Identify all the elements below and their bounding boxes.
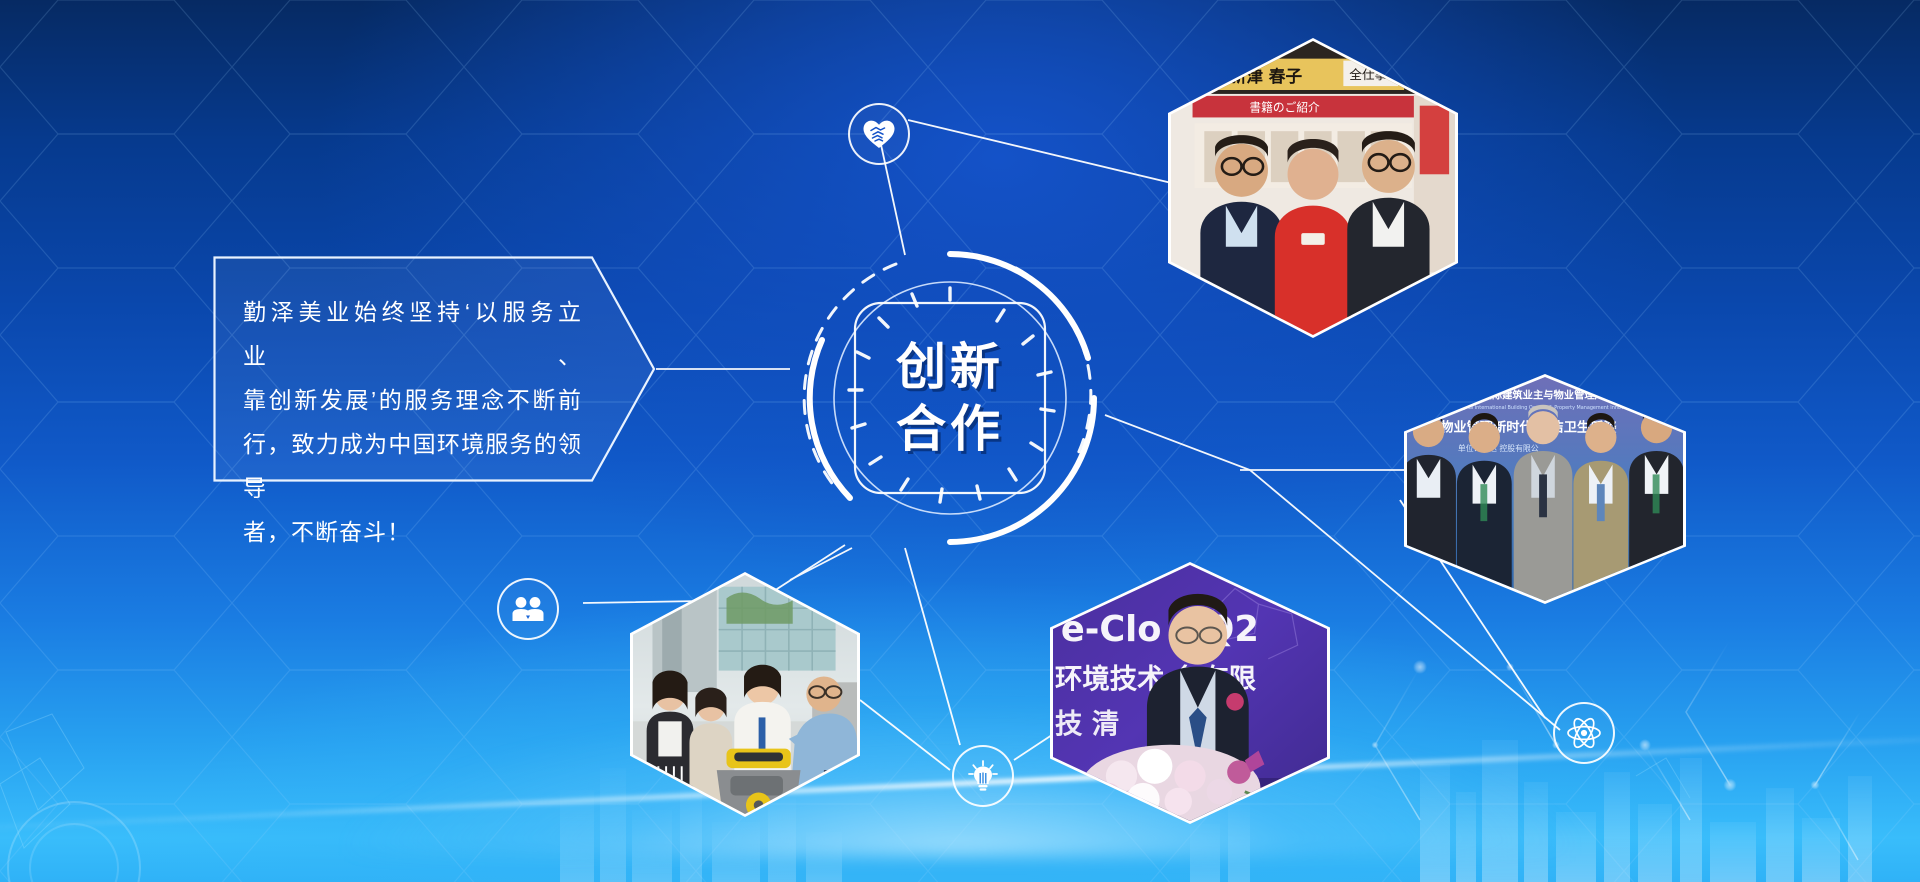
- lightbulb-idea-icon-bubble[interactable]: [952, 745, 1014, 807]
- photo-japan-store-visit[interactable]: 新津 春子 全仕事 書籍のご紹介: [1168, 38, 1458, 338]
- people-group-icon-bubble[interactable]: [497, 578, 559, 640]
- quote-line: 勤泽美业始终坚持‘以服务立业、: [243, 290, 582, 378]
- emblem-line-1: 创新: [896, 339, 1004, 395]
- quote-line: 靠创新发展’的服务理念不断前: [243, 378, 582, 422]
- handshake-heart-icon: [862, 117, 896, 151]
- svg-text:書籍のご紹介: 書籍のご紹介: [1249, 101, 1320, 115]
- photo-facility-demo[interactable]: [630, 572, 860, 817]
- svg-text:单位：维达 控股有限公: 单位：维达 控股有限公: [1458, 443, 1539, 453]
- hex-photo: 新津 春子 全仕事 書籍のご紹介: [1171, 41, 1455, 335]
- emblem-text: 创新 合作: [800, 248, 1100, 548]
- handshake-heart-icon-bubble[interactable]: [848, 103, 910, 165]
- atom-science-icon: [1566, 715, 1602, 751]
- people-group-icon: [511, 596, 545, 622]
- quote-line: 行，致力成为中国环境服务的领导: [243, 422, 582, 510]
- photo-industry-forum-group[interactable]: 2019上海国际建筑业主与物业管理产业创新发 2019 Shanghai Int…: [1404, 374, 1686, 604]
- emblem-line-2: 合作: [896, 401, 1004, 457]
- svg-text:e-Clo &Q2: e-Clo &Q2: [1061, 609, 1259, 650]
- svg-text:技 清: 技 清: [1055, 709, 1119, 740]
- lightbulb-idea-icon: [966, 759, 1000, 793]
- quote-text: 勤泽美业始终坚持‘以服务立业、 靠创新发展’的服务理念不断前 行，致力成为中国环…: [243, 290, 582, 554]
- svg-text:2019上海国际建筑业主与物业管理产业创新发: 2019上海国际建筑业主与物业管理产业创新发: [1432, 388, 1646, 401]
- atom-science-icon-bubble[interactable]: [1553, 702, 1615, 764]
- company-philosophy-panel: 勤泽美业始终坚持‘以服务立业、 靠创新发展’的服务理念不断前 行，致力成为中国环…: [213, 256, 656, 482]
- photo-keynote-speaker[interactable]: e-Clo &Q2 环境技术 务有限 技 清 服务业联盟系列活: [1050, 562, 1330, 824]
- hex-photo: e-Clo &Q2 环境技术 务有限 技 清 服务业联盟系列活: [1053, 565, 1327, 821]
- quote-line: 者，不断奋斗！: [243, 510, 582, 554]
- center-emblem: 创新 合作: [800, 248, 1100, 548]
- promo-banner: 勤泽美业始终坚持‘以服务立业、 靠创新发展’的服务理念不断前 行，致力成为中国环…: [0, 0, 1920, 882]
- hex-photo: [633, 575, 857, 814]
- hex-photo: 2019上海国际建筑业主与物业管理产业创新发 2019 Shanghai Int…: [1407, 377, 1683, 601]
